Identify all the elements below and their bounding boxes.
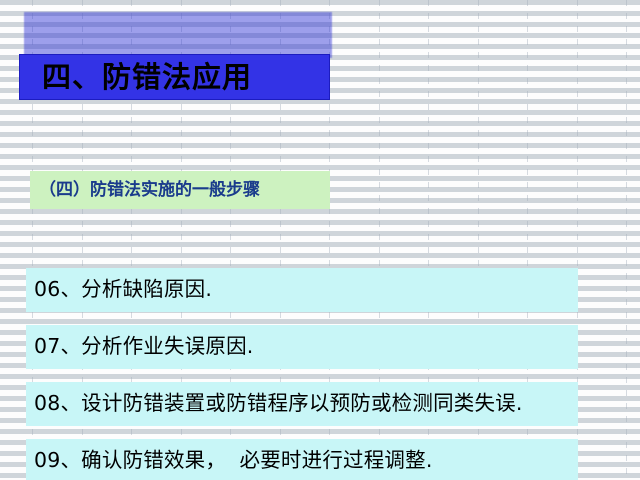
step-text: 06、分析缺陷原因. bbox=[34, 275, 572, 304]
list-item: 09、确认防错效果， 必要时进行过程调整. bbox=[26, 439, 578, 480]
title-banner-shadow bbox=[24, 12, 332, 58]
step-text: 08、设计防错装置或防错程序以预防或检测同类失误. bbox=[34, 389, 572, 418]
subtitle-label: （四）防错法实施的一般步骤 bbox=[39, 182, 260, 199]
list-item: 06、分析缺陷原因. bbox=[26, 268, 578, 312]
list-item: 08、设计防错装置或防错程序以预防或检测同类失误. bbox=[26, 382, 578, 426]
step-text: 07、分析作业失误原因. bbox=[34, 332, 572, 361]
page-title: 四、防错法应用 bbox=[42, 63, 252, 92]
title-banner: 四、防错法应用 bbox=[19, 54, 330, 100]
steps-list: 06、分析缺陷原因. 07、分析作业失误原因. 08、设计防错装置或防错程序以预… bbox=[26, 268, 578, 480]
subtitle-box: （四）防错法实施的一般步骤 bbox=[30, 171, 330, 209]
grid-line bbox=[626, 0, 627, 480]
presentation-slide: 四、防错法应用 （四）防错法实施的一般步骤 06、分析缺陷原因. 07、分析作业… bbox=[0, 0, 640, 480]
step-text: 09、确认防错效果， 必要时进行过程调整. bbox=[34, 446, 572, 475]
list-item: 07、分析作业失误原因. bbox=[26, 325, 578, 369]
